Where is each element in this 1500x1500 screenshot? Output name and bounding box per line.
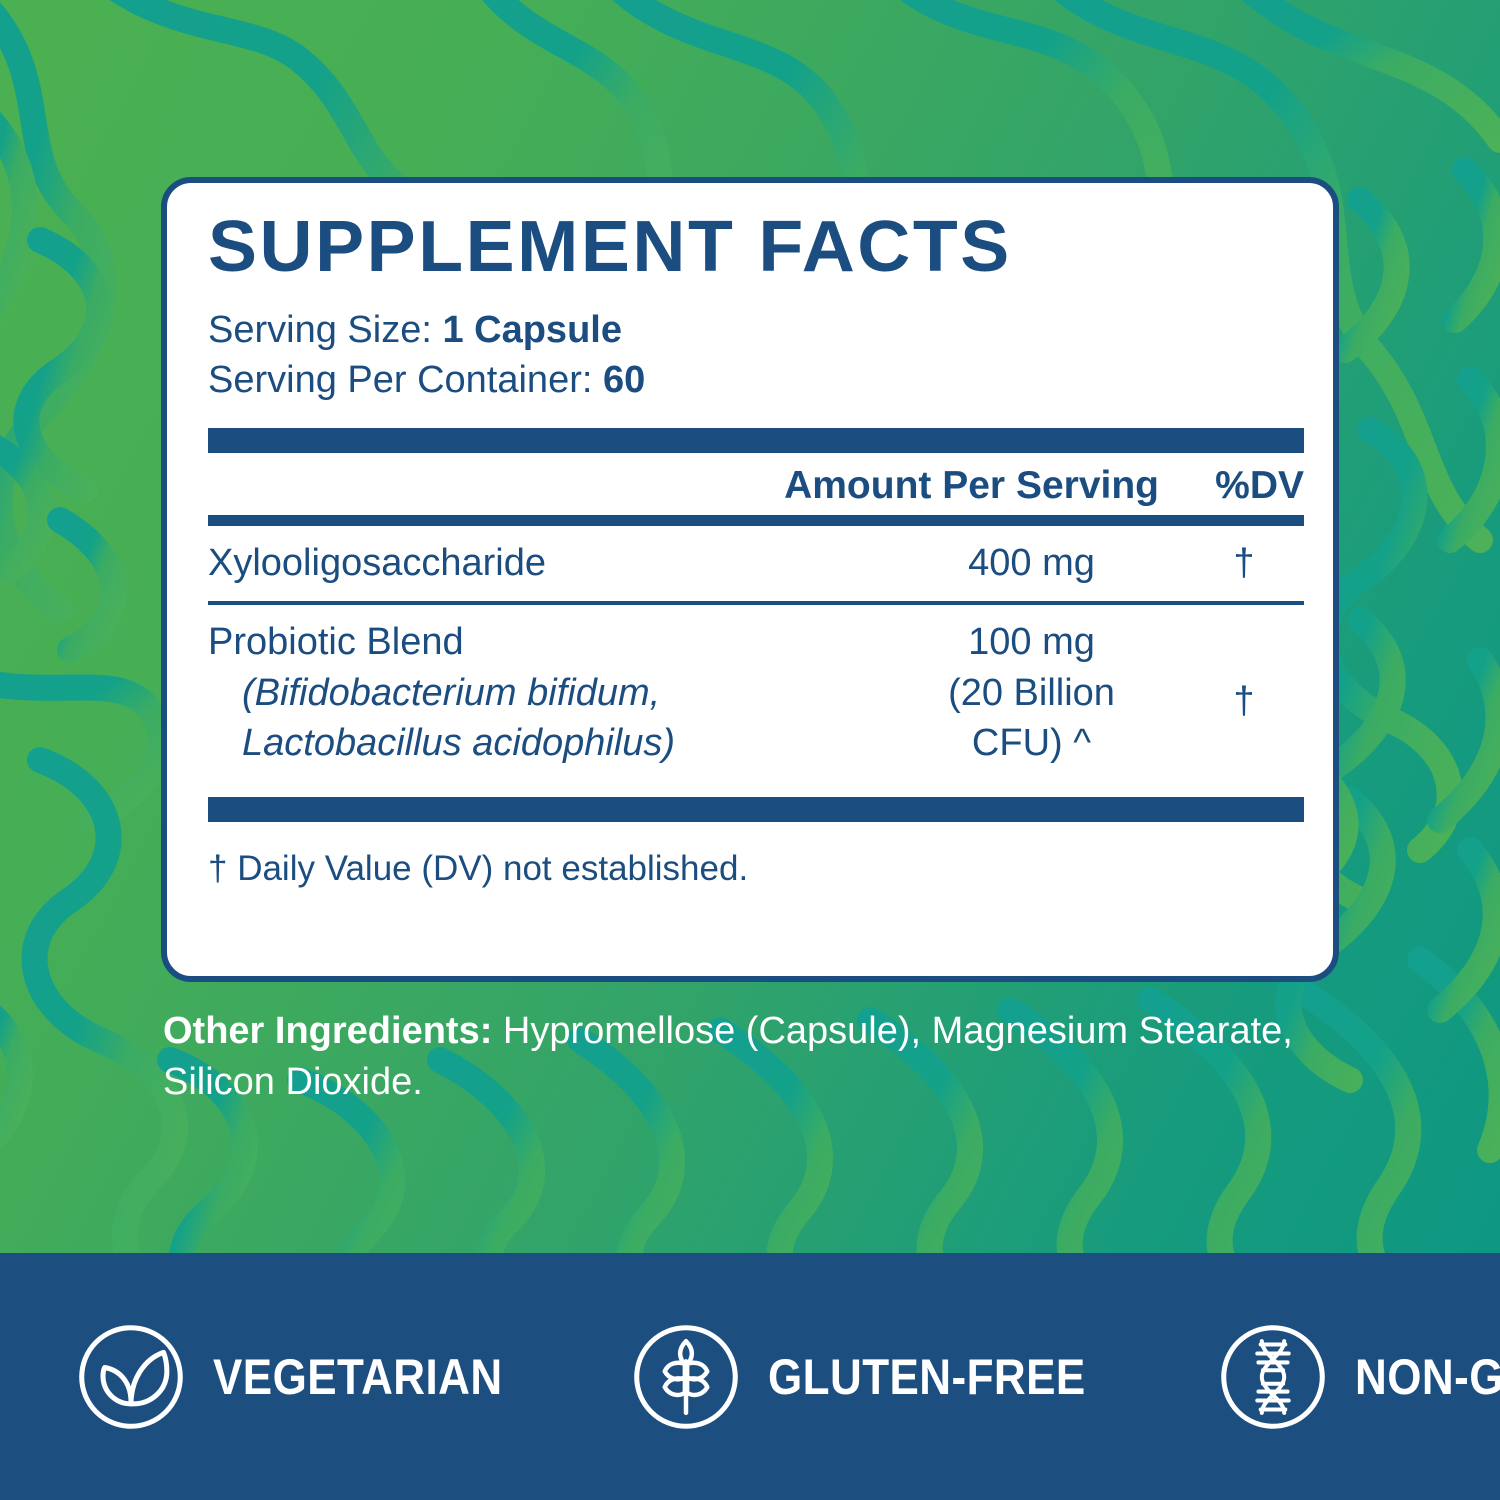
serving-size-line: Serving Size: 1 Capsule — [208, 305, 1304, 355]
daily-value-footnote: † Daily Value (DV) not established. — [208, 849, 1304, 889]
ingredient-dv: † — [1184, 526, 1304, 601]
ingredient-amount-block: 100 mg (20 Billion CFU) ^ — [879, 605, 1184, 769]
table-bottom-rule — [208, 797, 1304, 822]
serving-per-container-line: Serving Per Container: 60 — [208, 355, 1304, 405]
badge-non-gmo: NON-GMO — [1217, 1321, 1500, 1433]
wheat-icon — [630, 1321, 742, 1433]
ingredient-scientific-line-2: Lactobacillus acidophilus) — [208, 718, 879, 769]
ingredient-name: Xylooligosaccharide — [208, 526, 879, 589]
serving-info: Serving Size: 1 Capsule Serving Per Cont… — [208, 305, 1304, 405]
ingredient-amount-cfu-1: (20 Billion — [879, 668, 1184, 719]
table-header-rule — [208, 515, 1304, 526]
dna-icon — [1217, 1321, 1329, 1433]
serving-per-container-label: Serving Per Container: — [208, 359, 592, 401]
ingredient-name: Probiotic Blend — [208, 621, 464, 663]
leaves-icon — [75, 1321, 187, 1433]
badge-gluten-free: GLUTEN-FREE — [630, 1321, 1129, 1433]
ingredient-amount: 400 mg — [879, 526, 1184, 589]
badge-label: VEGETARIAN — [213, 1348, 503, 1406]
ingredient-dv: † — [1184, 605, 1304, 797]
serving-size-value: 1 Capsule — [442, 309, 622, 351]
ingredient-scientific-line-1: (Bifidobacterium bifidum, — [208, 668, 879, 719]
certification-footer-bar: VEGETARIAN GLUTEN-FREE — [0, 1253, 1500, 1500]
table-top-rule — [208, 428, 1304, 453]
column-header-amount-per-serving: Amount Per Serving — [784, 464, 1159, 508]
serving-per-container-value: 60 — [603, 359, 645, 401]
supplement-facts-card: SUPPLEMENT FACTS Serving Size: 1 Capsule… — [161, 177, 1339, 982]
supplement-label-image: SUPPLEMENT FACTS Serving Size: 1 Capsule… — [0, 0, 1500, 1500]
table-row: Xylooligosaccharide 400 mg † — [208, 526, 1304, 601]
badge-vegetarian: VEGETARIAN — [75, 1321, 542, 1433]
ingredient-amount: 100 mg — [879, 617, 1184, 668]
badge-label: NON-GMO — [1355, 1348, 1500, 1406]
column-header-percent-dv: %DV — [1215, 464, 1304, 508]
table-row: Probiotic Blend (Bifidobacterium bifidum… — [208, 605, 1304, 797]
ingredient-amount-cfu-2: CFU) ^ — [879, 718, 1184, 769]
other-ingredients-label: Other Ingredients: — [163, 1010, 492, 1052]
serving-size-label: Serving Size: — [208, 309, 432, 351]
page-title: SUPPLEMENT FACTS — [208, 211, 1326, 283]
other-ingredients: Other Ingredients: Hypromellose (Capsule… — [163, 1006, 1333, 1107]
badge-label: GLUTEN-FREE — [768, 1348, 1086, 1406]
ingredient-name-block: Probiotic Blend (Bifidobacterium bifidum… — [208, 605, 879, 769]
table-column-headers: Amount Per Serving %DV — [208, 453, 1304, 515]
